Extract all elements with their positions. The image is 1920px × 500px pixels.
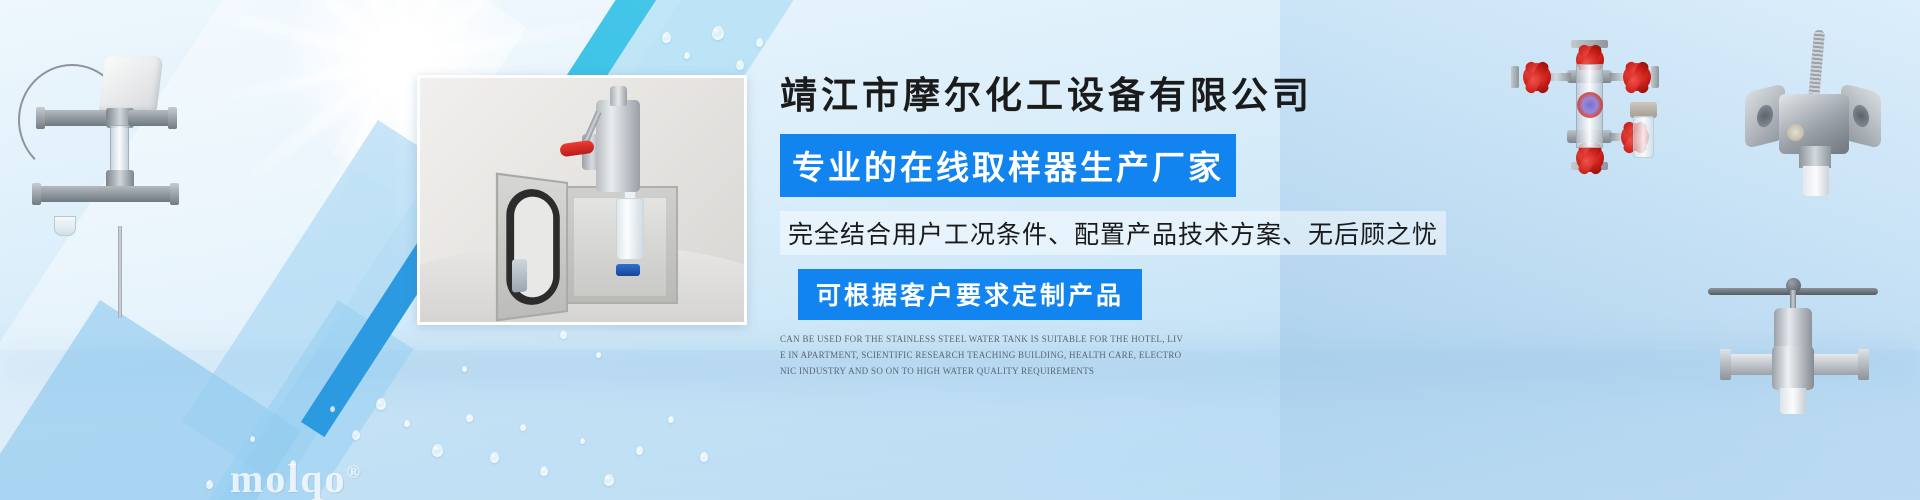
brand-watermark: molqo® bbox=[230, 455, 362, 500]
subline-text: 完全结合用户工况条件、配置产品技术方案、无后顾之忧 bbox=[780, 211, 1446, 255]
registered-mark-icon: ® bbox=[347, 462, 362, 482]
headline-badge: 专业的在线取样器生产厂家 bbox=[780, 134, 1236, 197]
photo-sample-bottle bbox=[616, 198, 644, 260]
photo-valve-cap bbox=[610, 86, 627, 106]
photo-valve-body bbox=[596, 100, 640, 192]
lever-valve-render bbox=[1700, 230, 1900, 405]
promo-banner: 靖江市摩尔化工设备有限公司 专业的在线取样器生产厂家 完全结合用户工况条件、配置… bbox=[0, 0, 1920, 500]
company-name: 靖江市摩尔化工设备有限公司 bbox=[780, 74, 1400, 120]
watermark-text: molqo bbox=[230, 456, 347, 500]
flanged-valve-render bbox=[1735, 28, 1885, 203]
banner-text-block: 靖江市摩尔化工设备有限公司 专业的在线取样器生产厂家 完全结合用户工况条件、配置… bbox=[780, 74, 1400, 380]
cross-sampler-render bbox=[1505, 38, 1675, 173]
photo-blue-ring bbox=[616, 264, 640, 276]
inline-sampler-render bbox=[10, 20, 200, 320]
photo-cabinet-door bbox=[496, 172, 568, 321]
tagline-badge: 可根据客户要求定制产品 bbox=[798, 269, 1142, 320]
main-product-photo[interactable] bbox=[417, 75, 747, 325]
english-blurb: CAN BE USED FOR THE STAINLESS STEEL WATE… bbox=[780, 332, 1184, 379]
